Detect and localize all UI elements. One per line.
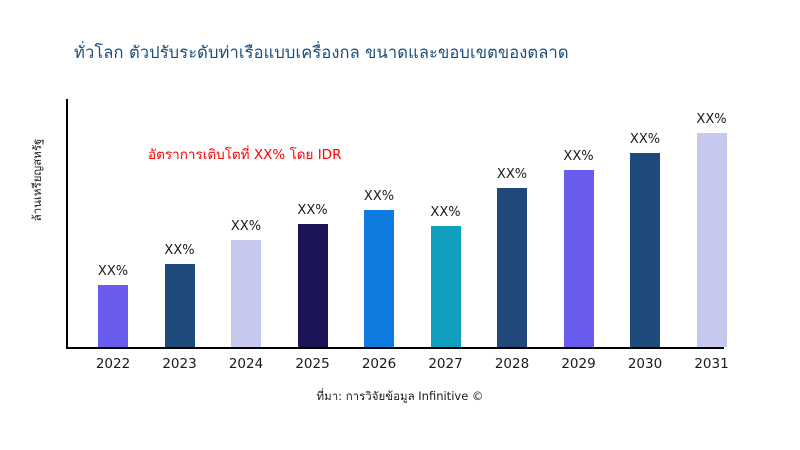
bar-chart: ทั่วโลก ตัวปรับระดับท่าเรือแบบเครื่องกล … — [0, 0, 800, 450]
bar-2026 — [364, 210, 394, 347]
x-tick-2025: 2025 — [280, 356, 346, 372]
x-tick-2024: 2024 — [213, 356, 279, 372]
bar-2025 — [298, 224, 328, 347]
bar-value-label-2029: XX% — [563, 149, 593, 164]
bar-value-label-2025: XX% — [297, 203, 327, 218]
x-tick-2023: 2023 — [147, 356, 213, 372]
bar-series: XX%XX%XX%XX%XX%XX%XX%XX%XX%XX% — [66, 99, 786, 347]
bar-2029 — [564, 170, 594, 347]
bar-2022 — [98, 285, 128, 347]
x-tick-2030: 2030 — [612, 356, 678, 372]
y-axis-label-container: ล้านเหรียญสหรัฐ — [26, 100, 50, 260]
bar-group-2031: XX% — [679, 99, 745, 347]
bar-group-2025: XX% — [280, 99, 346, 347]
bar-value-label-2024: XX% — [231, 219, 261, 234]
x-tick-2027: 2027 — [413, 356, 479, 372]
bar-group-2027: XX% — [413, 99, 479, 347]
bar-group-2026: XX% — [346, 99, 412, 347]
x-axis-line — [66, 347, 724, 349]
bar-group-2028: XX% — [479, 99, 545, 347]
x-tick-2031: 2031 — [679, 356, 745, 372]
bar-value-label-2030: XX% — [630, 132, 660, 147]
bar-group-2022: XX% — [80, 99, 146, 347]
source-caption: ที่มา: การวิจัยข้อมูล Infinitive © — [0, 388, 800, 406]
x-tick-2029: 2029 — [546, 356, 612, 372]
bar-2024 — [231, 240, 261, 347]
bar-2030 — [630, 153, 660, 347]
bar-group-2023: XX% — [147, 99, 213, 347]
bar-value-label-2031: XX% — [696, 112, 726, 127]
bar-value-label-2026: XX% — [364, 189, 394, 204]
page-title: ทั่วโลก ตัวปรับระดับท่าเรือแบบเครื่องกล … — [74, 40, 569, 66]
bar-2023 — [165, 264, 195, 347]
bar-value-label-2023: XX% — [164, 243, 194, 258]
bar-group-2029: XX% — [546, 99, 612, 347]
bar-2027 — [431, 226, 461, 347]
bar-value-label-2022: XX% — [98, 264, 128, 279]
y-axis-label: ล้านเหรียญสหรัฐ — [29, 139, 47, 222]
x-axis-tick-labels: 2022202320242025202620272028202920302031 — [66, 356, 786, 376]
bar-group-2030: XX% — [612, 99, 678, 347]
x-tick-2026: 2026 — [346, 356, 412, 372]
bar-group-2024: XX% — [213, 99, 279, 347]
x-tick-2022: 2022 — [80, 356, 146, 372]
plot-area: XX%XX%XX%XX%XX%XX%XX%XX%XX%XX% — [66, 99, 724, 349]
x-tick-2028: 2028 — [479, 356, 545, 372]
bar-value-label-2027: XX% — [430, 205, 460, 220]
bar-2031 — [697, 133, 727, 347]
bar-value-label-2028: XX% — [497, 167, 527, 182]
bar-2028 — [497, 188, 527, 347]
growth-rate-annotation: อัตราการเติบโตที่ XX% โดย IDR — [148, 143, 341, 165]
